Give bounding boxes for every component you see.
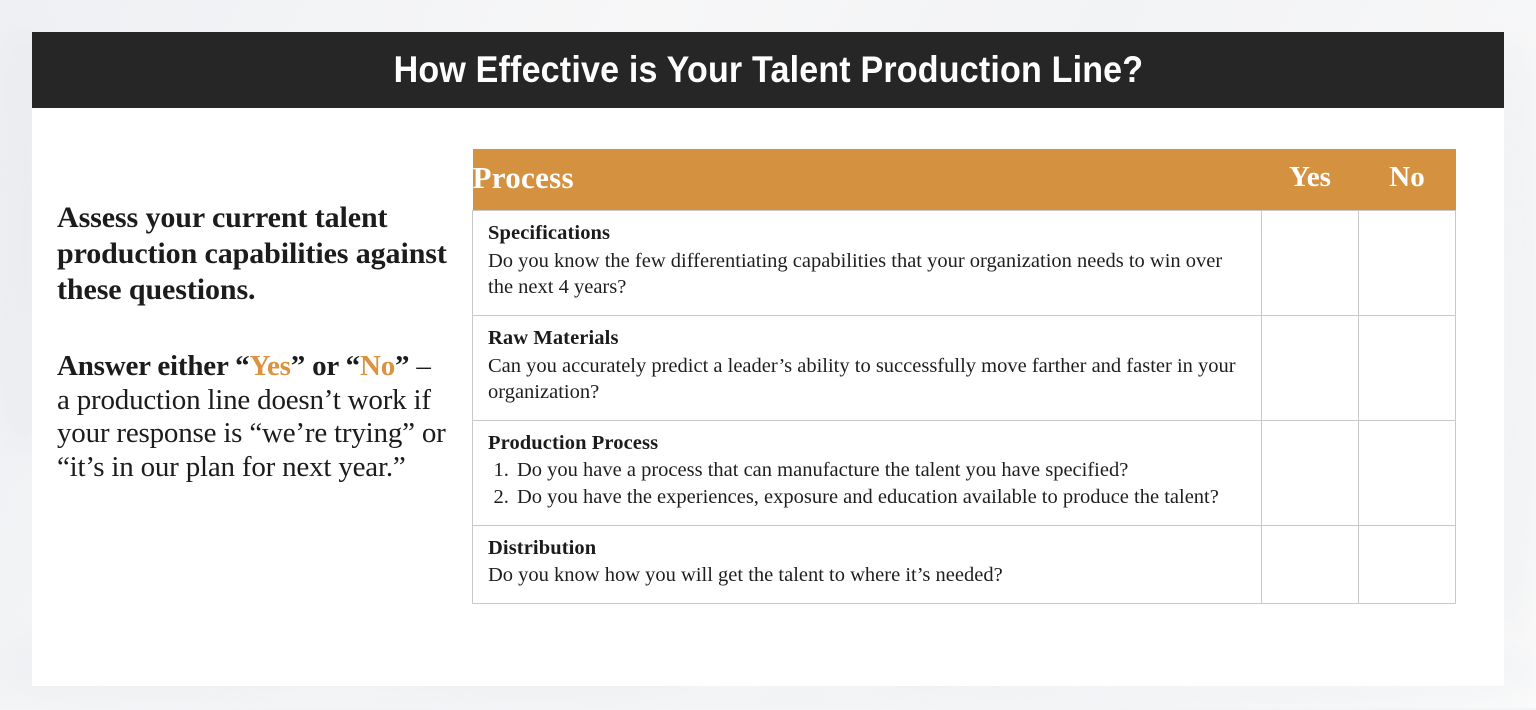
row-title: Raw Materials xyxy=(488,326,1239,352)
quote-open-yes: “ xyxy=(235,350,249,382)
row-title: Specifications xyxy=(488,221,1239,247)
table-row: Specifications Do you know the few diffe… xyxy=(473,211,1456,316)
quote-close-yes: ” xyxy=(291,350,305,382)
list-item: Do you have a process that can manufactu… xyxy=(514,457,1239,484)
title-banner: How Effective is Your Talent Production … xyxy=(32,32,1504,108)
process-cell: Raw Materials Can you accurately predict… xyxy=(473,315,1262,420)
table-row: Production Process Do you have a process… xyxy=(473,420,1456,525)
no-checkbox-cell[interactable] xyxy=(1359,315,1456,420)
row-body: Do you know how you will get the talent … xyxy=(488,562,1239,589)
table-row: Distribution Do you know how you will ge… xyxy=(473,525,1456,603)
table-header: Process Yes No xyxy=(473,149,1456,211)
answer-middle: or xyxy=(305,350,346,382)
column-header-yes: Yes xyxy=(1262,149,1359,211)
list-item: Do you have the experiences, exposure an… xyxy=(514,484,1239,511)
table-row: Raw Materials Can you accurately predict… xyxy=(473,315,1456,420)
assessment-table: Process Yes No Specifications Do you kno… xyxy=(472,149,1456,604)
content-card: How Effective is Your Talent Production … xyxy=(32,32,1504,686)
yes-checkbox-cell[interactable] xyxy=(1262,315,1359,420)
header-row: Process Yes No xyxy=(473,149,1456,211)
quote-close-no: ” xyxy=(395,350,409,382)
quote-open-no: “ xyxy=(346,350,360,382)
row-title: Distribution xyxy=(488,536,1239,562)
answer-prefix: Answer either xyxy=(57,350,235,382)
row-body: Can you accurately predict a leader’s ab… xyxy=(488,353,1239,406)
no-checkbox-cell[interactable] xyxy=(1359,420,1456,525)
table-body: Specifications Do you know the few diffe… xyxy=(473,211,1456,604)
assessment-table-wrapper: Process Yes No Specifications Do you kno… xyxy=(472,149,1455,604)
yes-checkbox-cell[interactable] xyxy=(1262,525,1359,603)
no-checkbox-cell[interactable] xyxy=(1359,525,1456,603)
no-checkbox-cell[interactable] xyxy=(1359,211,1456,316)
answer-instruction: Answer either “Yes” or “No” – a producti… xyxy=(57,350,447,485)
slide: How Effective is Your Talent Production … xyxy=(0,0,1536,708)
left-column: Assess your current talent production ca… xyxy=(57,200,447,485)
yes-highlight: Yes xyxy=(249,350,290,382)
row-body: Do you know the few differentiating capa… xyxy=(488,248,1239,301)
column-header-no: No xyxy=(1359,149,1456,211)
row-title: Production Process xyxy=(488,431,1239,457)
lead-instruction: Assess your current talent production ca… xyxy=(57,200,447,308)
yes-checkbox-cell[interactable] xyxy=(1262,420,1359,525)
no-highlight: No xyxy=(360,350,395,382)
page-title: How Effective is Your Talent Production … xyxy=(393,49,1143,91)
process-cell: Production Process Do you have a process… xyxy=(473,420,1262,525)
row-numbered-list: Do you have a process that can manufactu… xyxy=(488,457,1239,510)
column-header-process: Process xyxy=(473,149,1262,211)
yes-checkbox-cell[interactable] xyxy=(1262,211,1359,316)
process-cell: Specifications Do you know the few diffe… xyxy=(473,211,1262,316)
process-cell: Distribution Do you know how you will ge… xyxy=(473,525,1262,603)
